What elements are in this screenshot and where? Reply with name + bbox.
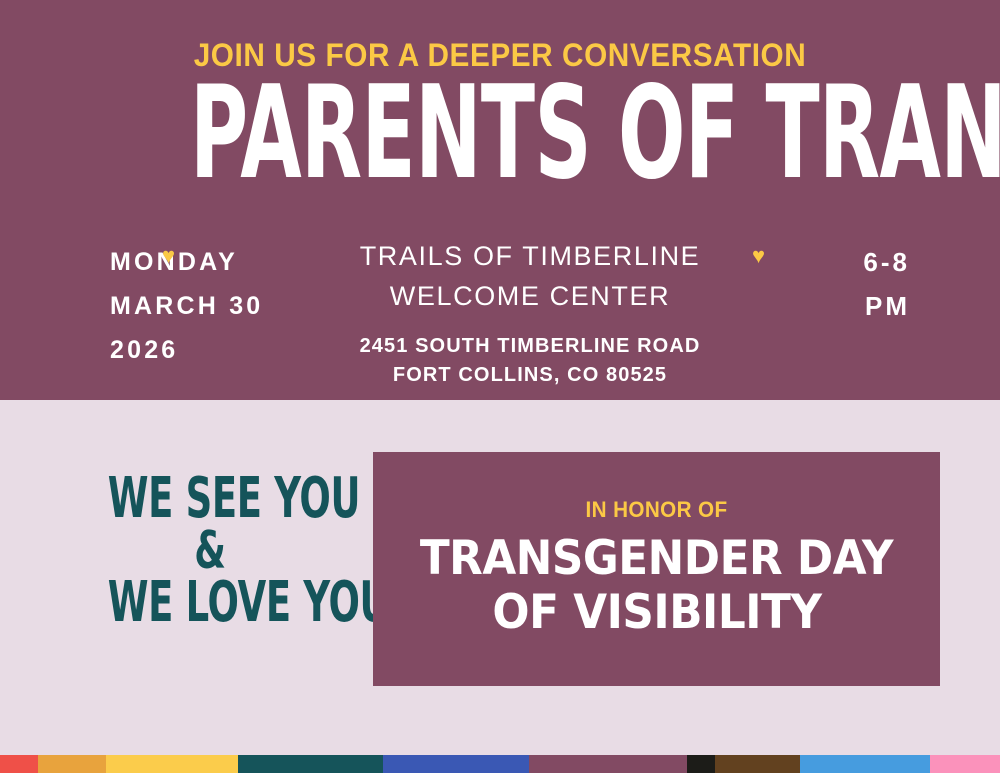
event-date-block: MONDAY MARCH 30 2026 bbox=[110, 240, 340, 372]
stripe-blue bbox=[383, 755, 529, 773]
lower-section: WE SEE YOU & WE LOVE YOU IN HONOR OF TRA… bbox=[0, 400, 1000, 755]
stripe-black bbox=[687, 755, 715, 773]
venue-name-line-1: TRAILS OF TIMBERLINE bbox=[340, 236, 720, 276]
stripe-light-blue bbox=[800, 755, 930, 773]
affirmation-ampersand: & bbox=[102, 530, 319, 572]
event-poster: JOIN US FOR A DEEPER CONVERSATION PARENT… bbox=[0, 0, 1000, 773]
stripe-green bbox=[238, 755, 383, 773]
event-date-line-3: 2026 bbox=[110, 328, 340, 372]
stripe-pink bbox=[930, 755, 1000, 773]
event-venue-block: TRAILS OF TIMBERLINE WELCOME CENTER 2451… bbox=[340, 236, 720, 390]
affirmation-block: WE SEE YOU & WE LOVE YOU bbox=[55, 468, 365, 634]
venue-address-line-1: 2451 SOUTH TIMBERLINE ROAD bbox=[340, 332, 720, 361]
event-time-block: 6-8 PM bbox=[730, 240, 910, 328]
honor-card-kicker: IN HONOR OF bbox=[585, 498, 727, 522]
venue-address-line-2: FORT COLLINS, CO 80525 bbox=[340, 361, 720, 390]
pride-stripe-bar bbox=[0, 755, 1000, 773]
event-date-line-1: MONDAY bbox=[110, 240, 340, 284]
event-date-line-2: MARCH 30 bbox=[110, 284, 340, 328]
honor-card-title-line-1: TRANSGENDER DAY bbox=[420, 532, 893, 586]
stripe-brown bbox=[715, 755, 800, 773]
honor-card-title-line-2: OF VISIBILITY bbox=[492, 586, 821, 640]
stripe-red bbox=[0, 755, 38, 773]
page-title: PARENTS OF TRANS PANEL bbox=[190, 72, 810, 196]
hero-band: JOIN US FOR A DEEPER CONVERSATION PARENT… bbox=[0, 0, 1000, 400]
stripe-purple bbox=[529, 755, 687, 773]
event-time-line-1: 6-8 bbox=[730, 240, 910, 284]
stripe-orange bbox=[38, 755, 106, 773]
event-time-line-2: PM bbox=[730, 284, 910, 328]
affirmation-line-2: WE LOVE YOU bbox=[108, 572, 313, 634]
event-details-row: MONDAY MARCH 30 2026 ♥ TRAILS OF TIMBERL… bbox=[0, 236, 1000, 396]
honor-card: IN HONOR OF TRANSGENDER DAY OF VISIBILIT… bbox=[373, 452, 940, 686]
venue-name-line-2: WELCOME CENTER bbox=[340, 276, 720, 316]
stripe-yellow bbox=[106, 755, 238, 773]
heart-icon-left: ♥ bbox=[162, 245, 175, 267]
